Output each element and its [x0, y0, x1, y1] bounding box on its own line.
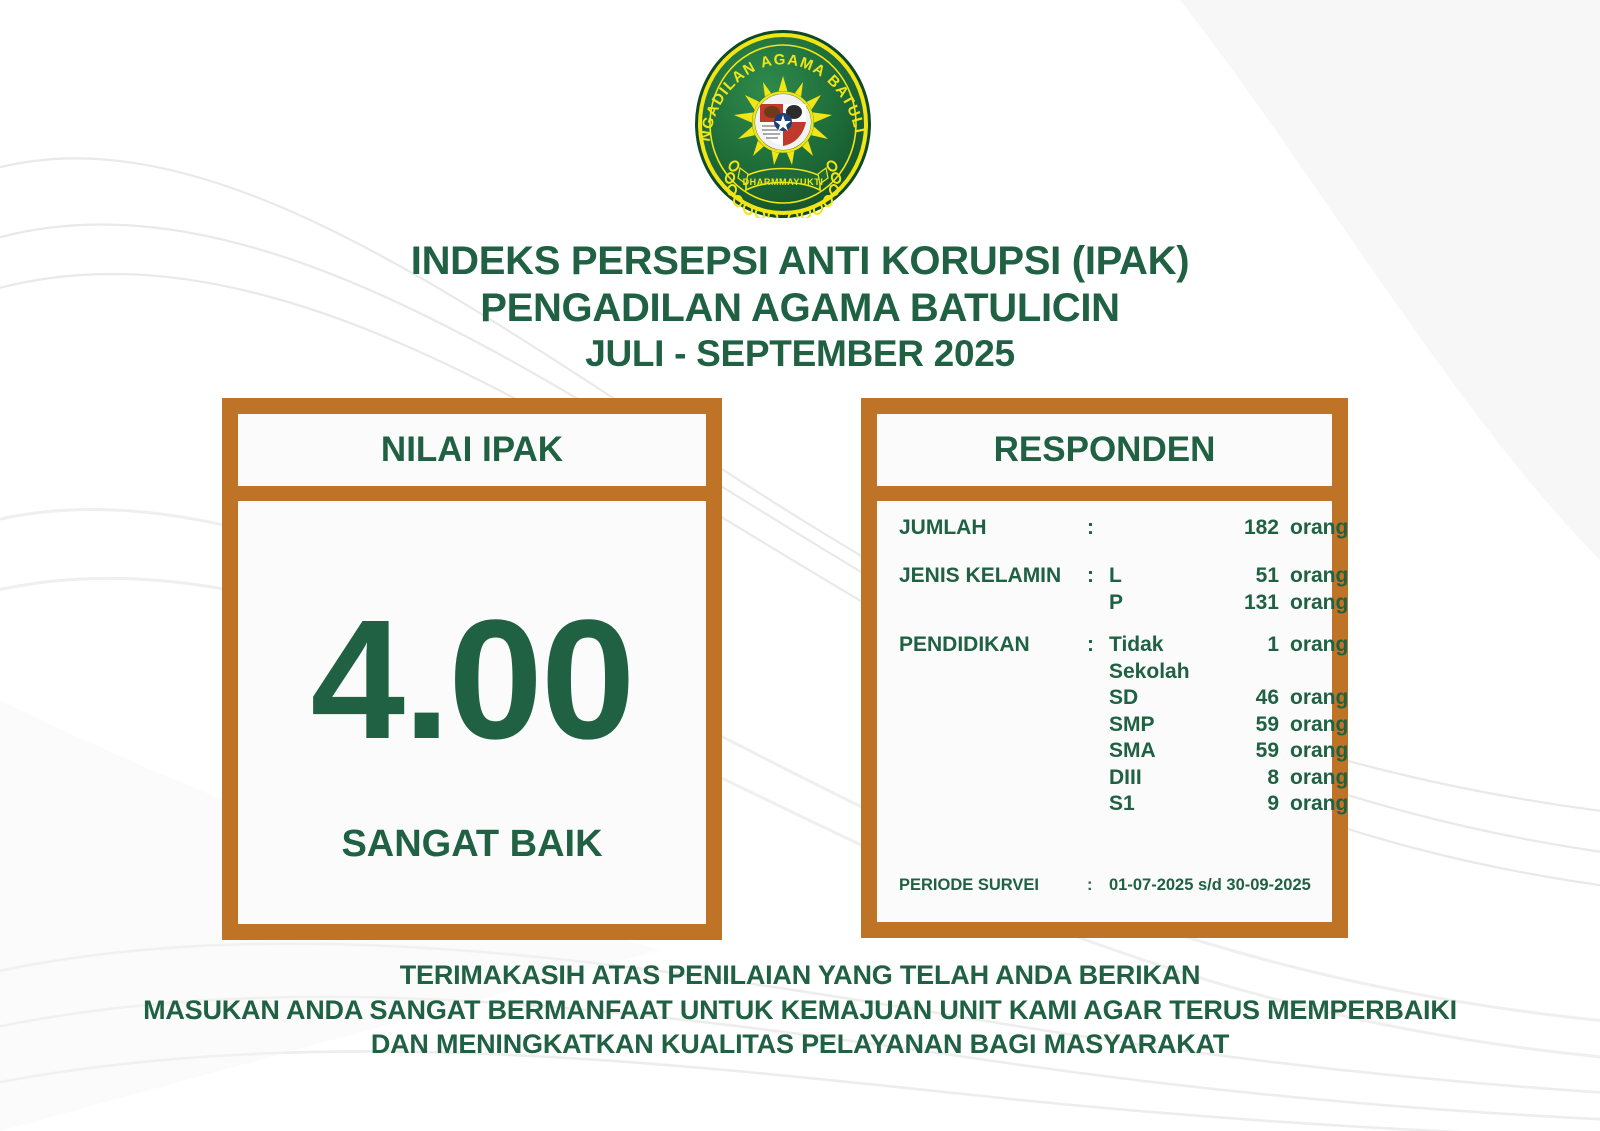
ipak-score-value: 4.00	[311, 595, 634, 765]
responden-panel: RESPONDEN JUMLAH : 182 orang JENIS KELAM…	[861, 398, 1348, 938]
jk-unit-l: orang	[1279, 563, 1362, 589]
nilai-ipak-panel: NILAI IPAK 4.00 SANGAT BAIK	[222, 398, 722, 940]
pendidikan-colon: :	[1087, 632, 1109, 658]
jumlah-colon: :	[1087, 515, 1109, 541]
responden-row-periode: PERIODE SURVEI : 01-07-2025 s/d 30-09-20…	[899, 875, 1316, 896]
jk-value-l: 51	[1217, 563, 1279, 589]
pend-category-tidak: Tidak	[1109, 632, 1217, 658]
responden-row-jk-l: JENIS KELAMIN : L 51 orang	[899, 563, 1316, 589]
pend-value-tidak: 1	[1217, 632, 1279, 658]
responden-row-pend-sma: SMA 59 orang	[899, 738, 1316, 764]
responden-row-jumlah: JUMLAH : 182 orang	[899, 515, 1316, 541]
jk-category-l: L	[1109, 563, 1217, 589]
pend-value-sd: 46	[1217, 685, 1279, 711]
pend-category-diii: DIII	[1109, 765, 1217, 791]
page-title: INDEKS PERSEPSI ANTI KORUPSI (IPAK) PENG…	[0, 238, 1600, 376]
nilai-ipak-body: 4.00 SANGAT BAIK	[238, 501, 706, 924]
jk-category-p: P	[1109, 590, 1217, 616]
pend-category-smp: SMP	[1109, 712, 1217, 738]
pend-value-diii: 8	[1217, 765, 1279, 791]
pend-value-sma: 59	[1217, 738, 1279, 764]
ipak-grade-label: SANGAT BAIK	[341, 823, 602, 866]
jumlah-unit: orang	[1279, 515, 1362, 541]
spacer	[899, 541, 1316, 563]
pengadilan-agama-batulicin-seal-icon: PENGADILAN AGAMA BATULICIN DHARMMAYUKTI	[688, 26, 878, 218]
pend-unit-sma: orang	[1279, 738, 1362, 764]
responden-row-pend-sd: SD 46 orang	[899, 685, 1316, 711]
responden-row-pend-diii: DIII 8 orang	[899, 765, 1316, 791]
pendidikan-label: PENDIDIKAN	[899, 632, 1087, 658]
responden-row-pend-tidaksekolah: PENDIDIKAN : Tidak 1 orang	[899, 632, 1316, 658]
responden-row-jk-p: P 131 orang	[899, 590, 1316, 616]
footer-line-1: TERIMAKASIH ATAS PENILAIAN YANG TELAH AN…	[0, 958, 1600, 993]
pend-unit-diii: orang	[1279, 765, 1362, 791]
responden-row-pend-s1: S1 9 orang	[899, 791, 1316, 817]
pend-unit-sd: orang	[1279, 685, 1362, 711]
footer-line-2: MASUKAN ANDA SANGAT BERMANFAAT UNTUK KEM…	[0, 993, 1600, 1028]
jumlah-value: 182	[1217, 515, 1279, 541]
periode-label: PERIODE SURVEI	[899, 875, 1087, 896]
jk-value-p: 131	[1217, 590, 1279, 616]
spacer	[899, 616, 1316, 632]
periode-colon: :	[1087, 875, 1109, 896]
pend-value-s1: 9	[1217, 791, 1279, 817]
jenis-kelamin-colon: :	[1087, 563, 1109, 589]
nilai-ipak-header: NILAI IPAK	[238, 414, 706, 486]
pend-category-sma: SMA	[1109, 738, 1217, 764]
footer-line-3: DAN MENINGKATKAN KUALITAS PELAYANAN BAGI…	[0, 1027, 1600, 1062]
responden-row-pend-smp: SMP 59 orang	[899, 712, 1316, 738]
jk-unit-p: orang	[1279, 590, 1362, 616]
responden-body: JUMLAH : 182 orang JENIS KELAMIN : L 51 …	[877, 501, 1332, 922]
pend-unit-s1: orang	[1279, 791, 1362, 817]
pend-category-sd: SD	[1109, 685, 1217, 711]
seal-banner-text: DHARMMAYUKTI	[743, 177, 824, 187]
responden-header: RESPONDEN	[877, 414, 1332, 486]
jenis-kelamin-label: JENIS KELAMIN	[899, 563, 1087, 589]
pend-category-s1: S1	[1109, 791, 1217, 817]
jumlah-label: JUMLAH	[899, 515, 1087, 541]
periode-value: 01-07-2025 s/d 30-09-2025	[1109, 875, 1311, 896]
title-line-3: JULI - SEPTEMBER 2025	[0, 332, 1600, 376]
pend-unit-smp: orang	[1279, 712, 1362, 738]
pend-unit-tidak: orang	[1279, 632, 1362, 658]
responden-row-pend-sekolah-cont: Sekolah	[899, 659, 1316, 685]
title-line-2: PENGADILAN AGAMA BATULICIN	[0, 285, 1600, 332]
footer-message: TERIMAKASIH ATAS PENILAIAN YANG TELAH AN…	[0, 958, 1600, 1062]
pend-category-sekolah: Sekolah	[1109, 659, 1217, 685]
pend-value-smp: 59	[1217, 712, 1279, 738]
title-line-1: INDEKS PERSEPSI ANTI KORUPSI (IPAK)	[0, 238, 1600, 285]
